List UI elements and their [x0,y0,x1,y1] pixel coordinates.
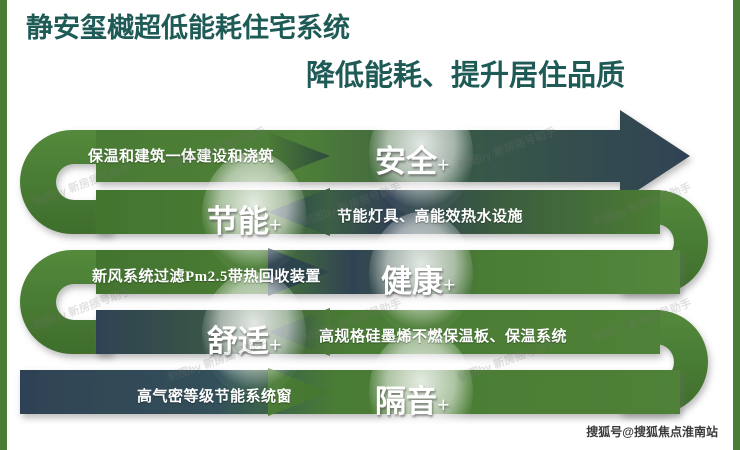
footer-credit: 搜狐号@搜狐焦点淮南站 [586,423,718,440]
page-title: 静安玺樾超低能耗住宅系统 [26,6,350,45]
keyword-bubble-2 [202,152,306,276]
row-5-band [20,370,680,414]
page-subtitle: 降低能耗、提升居住品质 [306,52,625,94]
slide-canvas: 静安玺樾超低能耗住宅系统 降低能耗、提升居住品质 [0,0,740,450]
keyword-bubble-3 [369,212,473,336]
keyword-bubble-4 [202,272,306,396]
serpentine-process-diagram [0,104,740,424]
